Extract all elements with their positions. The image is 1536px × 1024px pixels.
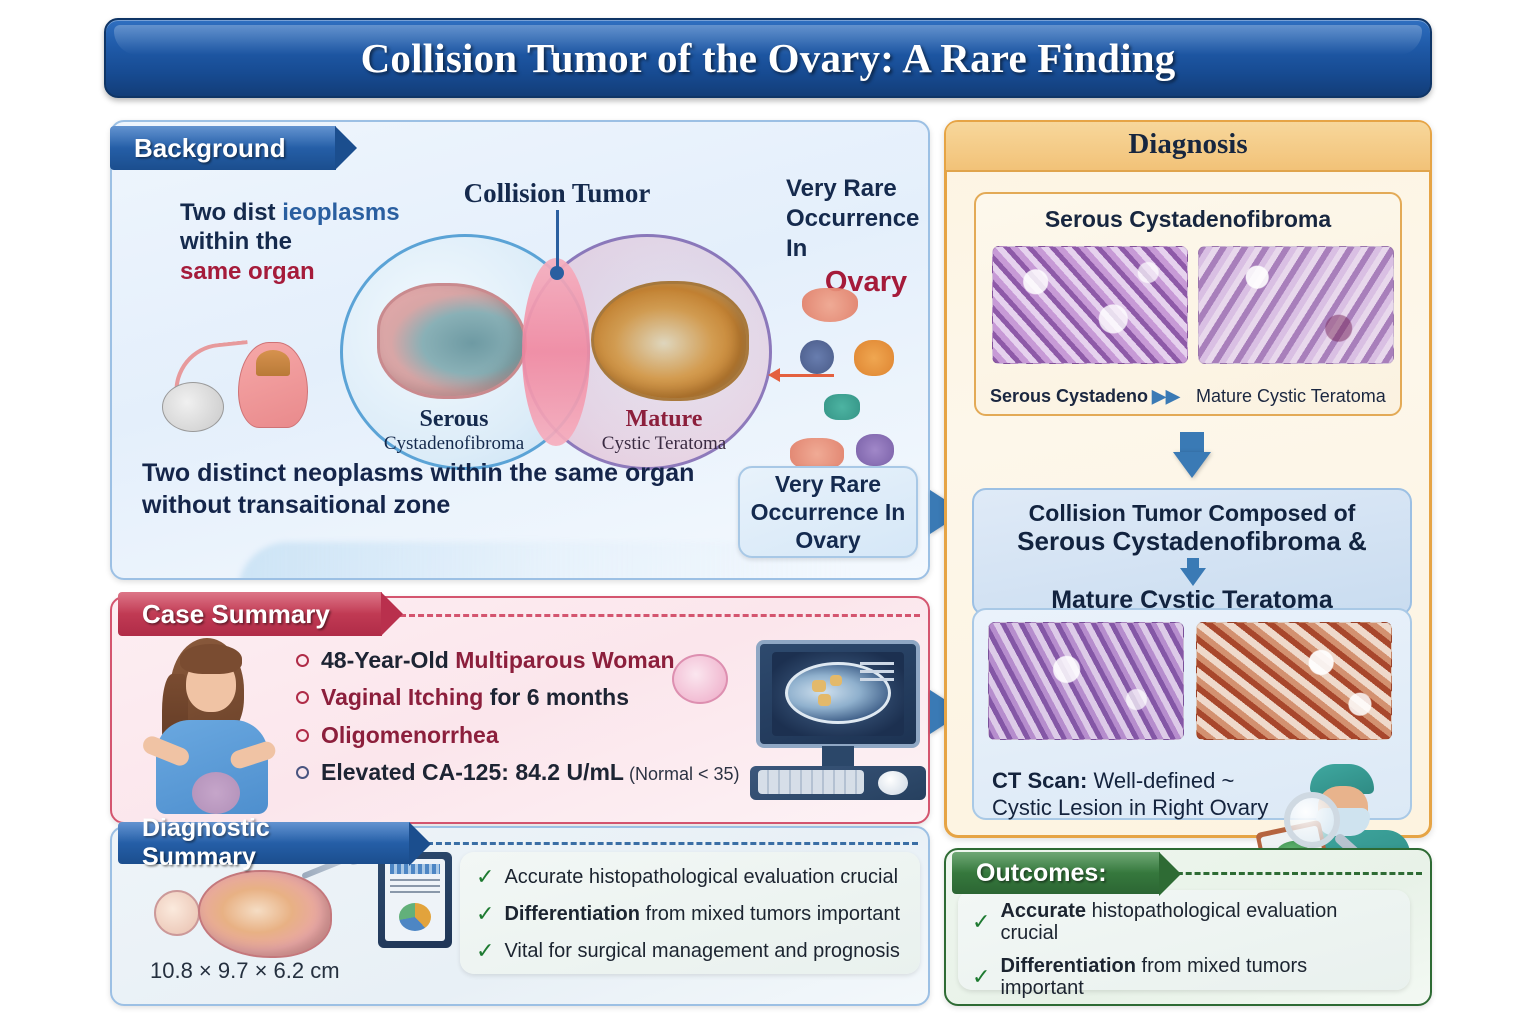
- check-icon: ✓: [972, 909, 990, 935]
- micrograph-caption-right: Mature Cystic Teratoma: [1196, 386, 1406, 407]
- checklist-row: ✓ Accurate histopathological evaluation …: [476, 864, 904, 890]
- case-item-note: (Normal < 35): [624, 764, 740, 784]
- clipboard-pie-chart-icon: [399, 903, 431, 931]
- check-icon: ✓: [972, 964, 990, 990]
- page-title: Collision Tumor of the Ovary: A Rare Fin…: [361, 34, 1176, 82]
- checklist-text: Accurate histopathological evaluation cr…: [504, 866, 898, 888]
- caption-arrows-icon: ▶▶: [1152, 386, 1180, 407]
- page-title-banner: Collision Tumor of the Ovary: A Rare Fin…: [104, 18, 1432, 98]
- case-item-text: Elevated CA-125: 84.2 U/mL (Normal < 35): [321, 760, 740, 785]
- background-rare-line1: Very Rare: [786, 175, 897, 202]
- ovary-mini-icon: [856, 434, 894, 466]
- report-clipboard-icon: [378, 852, 452, 948]
- monitor-hud-line-1: [860, 662, 894, 665]
- case-item-suffix: for 6 months: [483, 684, 629, 710]
- diagnosis-flow-arrow-shaft: [1180, 432, 1204, 454]
- checklist-rest: for surgical management and prognosis: [543, 940, 900, 962]
- venn-label-serous-title: Serous: [354, 406, 554, 433]
- case-item-text: Vaginal Itching for 6 months: [321, 685, 629, 710]
- checklist-bold: Differentiation: [504, 903, 640, 925]
- micrograph-teratoma: [1198, 246, 1394, 364]
- gross-specimen-illustration: [150, 856, 360, 964]
- conclusion-arrow-head-icon: [1180, 568, 1206, 586]
- conclusion-line-2: Serous Cystadenofibroma &: [974, 526, 1410, 557]
- uterus-ovary-illustration: [152, 324, 342, 444]
- checklist-bold: Accurate: [1000, 900, 1086, 922]
- checklist-row: ✓ Differentiation from mixed tumors impo…: [476, 901, 904, 927]
- case-summary-item: Oligomenorrhea: [296, 723, 766, 748]
- monitor-screen: [772, 652, 904, 736]
- ct-fat-focus-3: [818, 694, 831, 706]
- rare-callout-line1: Very Rare: [775, 471, 881, 497]
- micrograph-violet: [988, 622, 1184, 740]
- checklist-bold: Vital: [504, 940, 543, 962]
- histology-card-top: Serous Cystadenofibroma: [974, 192, 1402, 416]
- bullet-marker-icon: [296, 729, 309, 742]
- ovary-cyst-shape: [162, 382, 224, 432]
- checklist-rest: histopathological evaluation crucial: [583, 866, 898, 888]
- collision-label-dot: [550, 266, 564, 280]
- outcomes-dashed-connector: [1168, 872, 1422, 875]
- diagnosis-title: Diagnosis: [944, 128, 1432, 161]
- case-item-emphasis: Vaginal Itching: [321, 684, 483, 710]
- checklist-row: ✓ Differentiation from mixed tumors impo…: [972, 955, 1396, 999]
- checklist-row: ✓ Accurate histopathological evaluation …: [972, 900, 1396, 944]
- case-item-text: Oligomenorrhea: [321, 723, 499, 748]
- ct-note-rest: Well-defined ~: [1087, 768, 1234, 793]
- clipboard-paper: [385, 859, 445, 941]
- checklist-text: Differentiation from mixed tumors import…: [1000, 955, 1396, 999]
- diagnostic-summary-dashed-connector: [418, 842, 918, 845]
- venn-label-teratoma-sub: Cystic Teratoma: [564, 433, 764, 455]
- case-summary-item: Elevated CA-125: 84.2 U/mL (Normal < 35): [296, 760, 766, 785]
- check-icon: ✓: [476, 864, 494, 890]
- bullet-marker-icon: [296, 654, 309, 667]
- lungs-mini-icon: [854, 340, 894, 376]
- background-left-note-a: Two dist: [180, 199, 276, 226]
- outcomes-checklist: ✓ Accurate histopathological evaluation …: [958, 890, 1410, 990]
- diagnosis-conclusion-box: Collision Tumor Composed of Serous Cysta…: [972, 488, 1412, 616]
- checklist-bold: Differentiation: [1000, 955, 1136, 977]
- background-left-note-c: within the: [180, 228, 292, 255]
- checklist-rest: from mixed tumors important: [640, 903, 900, 925]
- checklist-text: Vital for surgical management and progno…: [504, 940, 899, 962]
- venn-label-serous: Serous Cystadenofibroma: [354, 406, 554, 455]
- ct-scan-note: CT Scan: Well-defined ~ Cystic Lesion in…: [992, 768, 1322, 822]
- venn-label-serous-sub: Cystadenofibroma: [354, 433, 554, 455]
- thyroid-mini-icon: [824, 394, 860, 420]
- background-left-note-b: ieoplasms: [282, 199, 399, 226]
- conclusion-line-1: Collision Tumor Composed of: [974, 500, 1410, 527]
- monitor-frame: [756, 640, 920, 748]
- check-icon: ✓: [476, 938, 494, 964]
- case-summary-item: 48-Year-Old Multiparous Woman: [296, 648, 766, 673]
- ct-fat-focus-1: [812, 680, 826, 692]
- mature-cystic-teratoma-illustration: [591, 281, 749, 401]
- mini-icon-arrow-head-icon: [768, 368, 780, 382]
- checklist-text: Differentiation from mixed tumors import…: [504, 903, 900, 925]
- monitor-hud-line-3: [860, 678, 894, 681]
- ribbon-outcomes: Outcomes:: [952, 852, 1160, 894]
- bullet-marker-icon: [296, 766, 309, 779]
- collision-label-connector: [556, 210, 559, 272]
- background-rare-line2: Occurrence In: [786, 205, 919, 262]
- case-item-prefix: Elevated CA-125:: [321, 759, 515, 785]
- uterine-cavity-shape: [256, 350, 290, 376]
- background-left-note: Two dist ieoplasms within the same organ: [180, 198, 430, 286]
- case-summary-dashed-connector: [400, 614, 920, 617]
- ct-workstation-illustration: [750, 640, 926, 802]
- clipboard-text-lines: [390, 879, 440, 897]
- micrograph-serous: [992, 246, 1188, 364]
- specimen-dimensions: 10.8 × 9.7 × 6.2 cm: [150, 958, 390, 984]
- venn-label-teratoma-title: Mature: [564, 406, 764, 433]
- case-item-emphasis: Oligomenorrhea: [321, 722, 499, 748]
- specimen-mass-shape: [198, 870, 332, 958]
- rare-occurrence-callout: Very Rare Occurrence In Ovary: [738, 466, 918, 558]
- serous-cystadenofibroma-illustration: [377, 283, 527, 399]
- checklist-bold: Accurate: [504, 866, 583, 888]
- check-icon: ✓: [476, 901, 494, 927]
- ct-fat-focus-2: [830, 675, 842, 686]
- case-item-suffix: 84.2 U/mL: [515, 759, 624, 785]
- diagnostic-summary-checklist: ✓ Accurate histopathological evaluation …: [460, 852, 920, 974]
- ribbon-background: Background: [110, 126, 336, 170]
- ct-note-bold: CT Scan:: [992, 768, 1087, 793]
- monitor-hud-line-2: [860, 670, 894, 673]
- background-left-note-d: same organ: [180, 258, 315, 285]
- case-item-prefix: 48-Year-Old: [321, 647, 455, 673]
- magnifier-icon: [1284, 792, 1340, 848]
- histology-card-title: Serous Cystadenofibroma: [976, 206, 1400, 233]
- ribbon-diagnostic-summary: Diagnostic Summary: [118, 822, 410, 864]
- case-item-text: 48-Year-Old Multiparous Woman: [321, 648, 675, 673]
- monitor-stand: [822, 746, 854, 766]
- checklist-text: Accurate histopathological evaluation cr…: [1000, 900, 1396, 944]
- bullet-marker-icon: [296, 691, 309, 704]
- patient-hair-front-shape: [180, 644, 242, 674]
- mini-icon-arrow-line: [776, 374, 834, 377]
- ct-note-line2: Cystic Lesion in Right Ovary: [992, 795, 1268, 820]
- case-item-emphasis: Multiparous Woman: [455, 647, 674, 673]
- head-mini-icon: [800, 340, 834, 374]
- specimen-node-shape: [154, 890, 200, 936]
- keyboard-shape: [750, 766, 926, 800]
- mouse-shape: [878, 771, 908, 795]
- background-bottom-note: Two distinct neoplasms within the same o…: [142, 457, 702, 521]
- rare-callout-line2: Occurrence In: [751, 499, 906, 525]
- background-rare-note: Very Rare Occurrence In Ovary: [786, 174, 930, 300]
- collision-tumor-label: Collision Tumor: [442, 178, 672, 209]
- patient-illustration: [134, 634, 284, 812]
- uterus-mini-icon: [802, 288, 858, 322]
- diagnosis-flow-arrow-icon: [1173, 452, 1211, 478]
- case-summary-item: Vaginal Itching for 6 months: [296, 685, 766, 710]
- keyboard-keys: [758, 770, 864, 794]
- patient-abdomen-highlight: [192, 772, 240, 814]
- venn-label-teratoma: Mature Cystic Teratoma: [564, 406, 764, 455]
- case-summary-bullet-list: 48-Year-Old Multiparous Woman Vaginal It…: [296, 648, 766, 797]
- checklist-row: ✓ Vital for surgical management and prog…: [476, 938, 904, 964]
- micrograph-rust: [1196, 622, 1392, 740]
- rare-callout-line3: Ovary: [795, 527, 860, 553]
- ribbon-case-summary: Case Summary: [118, 592, 382, 636]
